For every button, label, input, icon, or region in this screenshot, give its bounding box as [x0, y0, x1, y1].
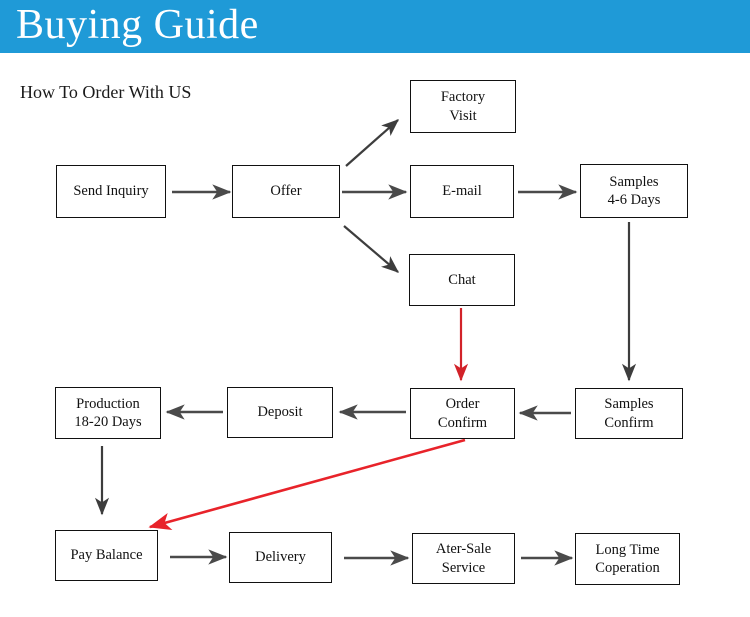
section-heading: How To Order With US — [20, 82, 191, 103]
node-pay-balance[interactable]: Pay Balance — [55, 530, 158, 581]
node-long-coperation[interactable]: Long Time Coperation — [575, 533, 680, 585]
node-samples-4-6-days[interactable]: Samples 4-6 Days — [580, 164, 688, 218]
node-samples-confirm[interactable]: Samples Confirm — [575, 388, 683, 439]
node-production[interactable]: Production 18-20 Days — [55, 387, 161, 439]
edge-order-confirm-to-pay-balance — [150, 440, 465, 527]
header-banner: Buying Guide — [0, 0, 750, 53]
node-label: Delivery — [255, 548, 306, 566]
node-deposit[interactable]: Deposit — [227, 387, 333, 438]
edge-offer-to-chat — [344, 226, 398, 272]
node-label: Pay Balance — [70, 546, 142, 564]
node-email[interactable]: E-mail — [410, 165, 514, 218]
node-label: Long Time Coperation — [595, 541, 659, 577]
node-chat[interactable]: Chat — [409, 254, 515, 306]
node-label: Order Confirm — [438, 395, 487, 431]
node-label: Chat — [448, 271, 475, 289]
node-label: E-mail — [442, 182, 481, 200]
node-label: Samples Confirm — [604, 395, 653, 431]
node-label: Samples 4-6 Days — [608, 173, 661, 209]
node-factory-visit[interactable]: Factory Visit — [410, 80, 516, 133]
node-label: Deposit — [257, 403, 302, 421]
node-order-confirm[interactable]: Order Confirm — [410, 388, 515, 439]
node-delivery[interactable]: Delivery — [229, 532, 332, 583]
node-label: Send Inquiry — [73, 182, 148, 200]
page-title: Buying Guide — [16, 0, 259, 52]
edge-offer-to-factory-visit — [346, 120, 398, 166]
node-offer[interactable]: Offer — [232, 165, 340, 218]
node-label: Production 18-20 Days — [74, 395, 141, 431]
node-after-sale[interactable]: Ater-Sale Service — [412, 533, 515, 584]
buying-guide-page: Buying Guide How To Order With US — [0, 0, 750, 617]
node-label: Factory Visit — [441, 88, 485, 124]
node-label: Ater-Sale Service — [436, 540, 491, 576]
node-send-inquiry[interactable]: Send Inquiry — [56, 165, 166, 218]
node-label: Offer — [270, 182, 301, 200]
